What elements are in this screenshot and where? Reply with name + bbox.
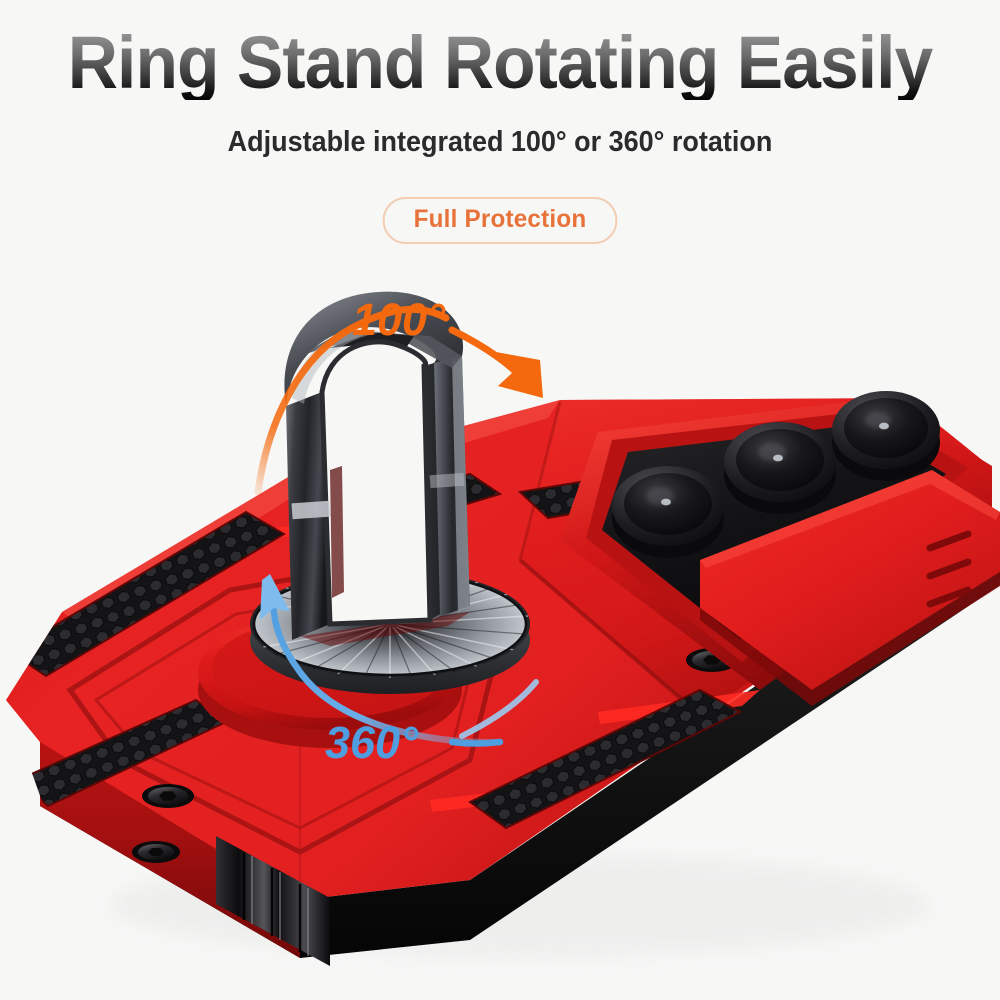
camera-lens <box>724 422 836 514</box>
callout-label-360: 360° <box>325 720 418 765</box>
camera-lens <box>832 391 940 481</box>
camera-lens <box>612 466 724 558</box>
callout-label-100: 100° <box>352 297 445 342</box>
phone-case-body <box>6 292 1000 966</box>
product-marketing-image: Ring Stand Rotating Easily Adjustable in… <box>0 0 1000 1000</box>
product-illustration <box>0 0 1000 1000</box>
